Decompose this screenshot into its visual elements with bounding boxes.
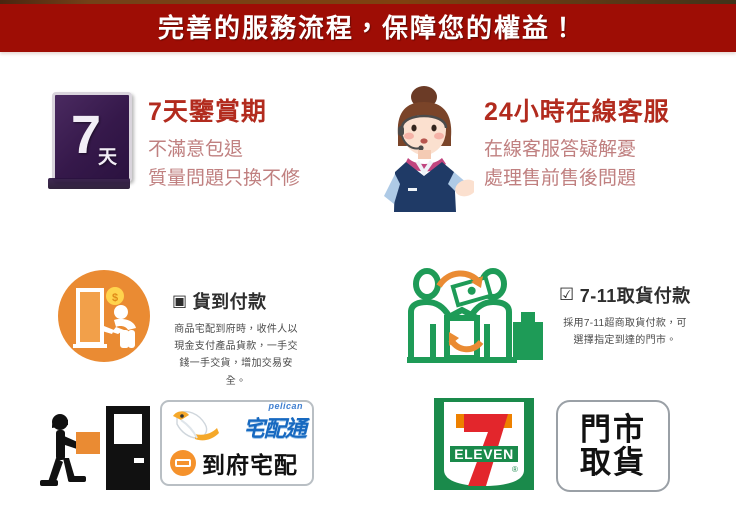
feature-customer-service-texts: 24小時在線客服 在線客服答疑解憂 處理售前售後問題 — [484, 84, 670, 194]
payment-seven-texts: ☑ 7-11取貨付款 採用7-11超商取貨付款，可選擇指定到達的門市。 — [559, 266, 691, 349]
cash-on-delivery-icon: $ — [58, 270, 150, 362]
customer-service-agent-icon — [378, 84, 474, 212]
payment-description: 商品宅配到府時，收件人以現金支付產品貨款，一手交錢一手交貨，增加交易安全。 — [172, 321, 300, 390]
payment-row: $ ▣ 貨到付款 商品宅配到府時，收件人以現金支付產品貨款，一手交錢一手交貨，增… — [0, 258, 736, 388]
banner-top-strip — [0, 0, 736, 4]
payment-heading-row: ☑ 7-11取貨付款 — [559, 282, 691, 308]
service-guarantee-page: 完善的服務流程，保障您的權益！ 7 天 7天鑒賞期 不滿意包退 質量問題只換不修 — [0, 0, 736, 522]
page-title: 完善的服務流程，保障您的權益！ — [158, 8, 578, 45]
feature-customer-service: 24小時在線客服 在線客服答疑解憂 處理售前售後問題 — [378, 84, 670, 212]
feature-title: 7天鑒賞期 — [148, 98, 300, 127]
pelican-card: pelican 宅配通 到府宅配 — [160, 400, 314, 486]
svg-text:$: $ — [112, 292, 118, 304]
store-pickup-line-1: 門市 — [580, 413, 646, 446]
home-delivery-courier-icon — [38, 400, 153, 501]
store-pickup-card: 門市 取貨 — [556, 400, 670, 492]
feature-seven-day: 7 天 7天鑒賞期 不滿意包退 質量問題只換不修 — [48, 92, 300, 196]
header-banner: 完善的服務流程，保障您的權益！ — [0, 0, 736, 52]
store-pickup-line-2: 取貨 — [580, 446, 646, 479]
seven-day-calendar-icon: 7 天 — [48, 92, 134, 196]
pelican-top: pelican 宅配通 — [162, 402, 312, 446]
feature-line-2: 質量問題只換不修 — [148, 164, 300, 193]
payment-heading: 7-11取貨付款 — [580, 282, 691, 308]
pelican-bottom: 到府宅配 — [162, 446, 312, 480]
calendar-number: 7 — [71, 108, 101, 162]
logo-row: pelican 宅配通 到府宅配 ELEVEN ® — [0, 392, 736, 502]
cash-card-icon: ▣ — [172, 291, 188, 311]
feature-row: 7 天 7天鑒賞期 不滿意包退 質量問題只換不修 — [0, 78, 736, 228]
store-pickup-exchange-icon — [405, 266, 545, 375]
calendar-shadow — [48, 178, 130, 189]
payment-description: 採用7-11超商取貨付款，可選擇指定到達的門市。 — [559, 315, 691, 349]
seven-eleven-mark: ELEVEN ® — [434, 398, 534, 490]
calendar-card: 7 天 — [52, 92, 132, 182]
pelican-takkyubin-logo: pelican 宅配通 到府宅配 — [160, 400, 314, 486]
payment-seven-eleven-pickup: ☑ 7-11取貨付款 採用7-11超商取貨付款，可選擇指定到達的門市。 — [405, 266, 691, 375]
payment-heading-row: ▣ 貨到付款 — [172, 288, 300, 314]
pelican-brand-en: pelican — [268, 401, 303, 411]
feature-line-1: 不滿意包退 — [148, 135, 300, 164]
feature-line-2: 處理售前售後問題 — [484, 164, 670, 193]
calendar-unit: 天 — [98, 142, 117, 169]
feature-seven-day-texts: 7天鑒賞期 不滿意包退 質量問題只換不修 — [148, 92, 300, 194]
feature-title: 24小時在線客服 — [484, 98, 670, 127]
payment-heading: 貨到付款 — [193, 288, 267, 314]
checkbox-checked-icon: ☑ — [559, 285, 575, 305]
pelican-brand-zh: 宅配通 — [243, 411, 306, 443]
feature-line-1: 在線客服答疑解憂 — [484, 135, 670, 164]
seven-eleven-wordmark: ELEVEN — [454, 446, 514, 462]
delivery-orb-icon — [170, 450, 196, 476]
payment-cod-texts: ▣ 貨到付款 商品宅配到府時，收件人以現金支付產品貨款，一手交錢一手交貨，增加交… — [172, 270, 300, 390]
svg-text:®: ® — [512, 465, 518, 474]
store-pickup-label: 門市 取貨 — [556, 400, 670, 492]
pelican-service-label: 到府宅配 — [202, 446, 298, 480]
seven-eleven-logo: ELEVEN ® — [434, 398, 534, 490]
payment-cash-on-delivery: $ ▣ 貨到付款 商品宅配到府時，收件人以現金支付產品貨款，一手交錢一手交貨，增… — [58, 270, 300, 390]
